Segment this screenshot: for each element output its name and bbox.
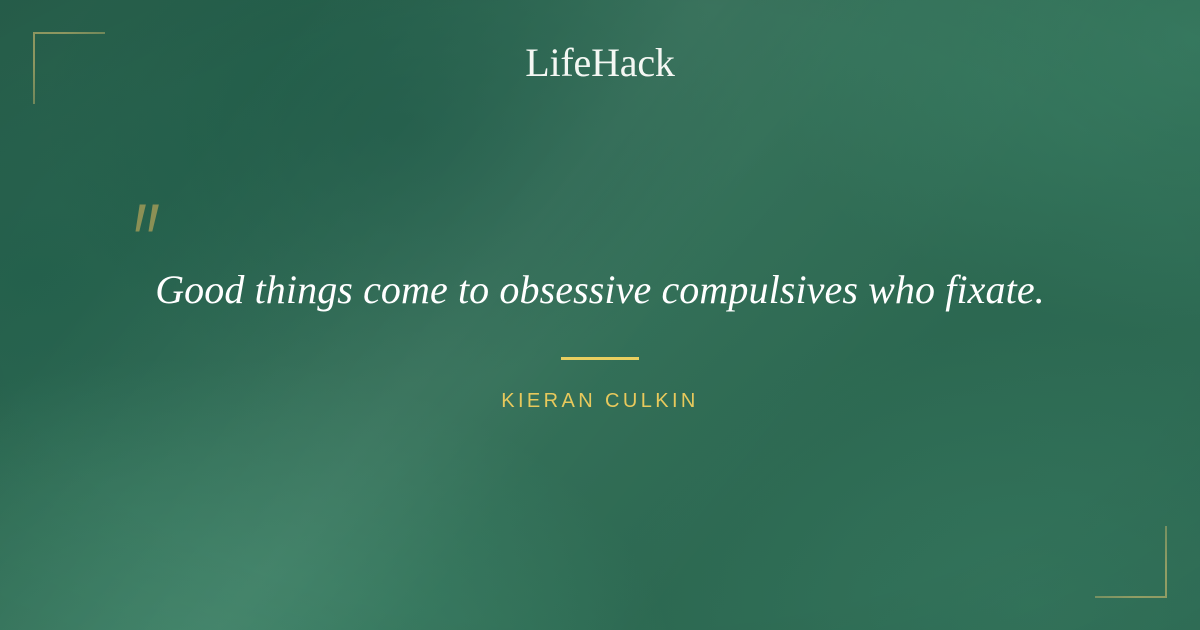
quote-author: KIERAN CULKIN xyxy=(0,389,1200,413)
quote-card: LifeHack Good things come to obsessive c… xyxy=(0,0,1200,630)
quote-divider xyxy=(561,357,639,360)
brand-logo: LifeHack xyxy=(0,40,1200,86)
corner-bracket-bottom-right-icon xyxy=(1095,526,1167,598)
double-quote-icon xyxy=(132,198,176,242)
quote-text: Good things come to obsessive compulsive… xyxy=(60,262,1140,318)
